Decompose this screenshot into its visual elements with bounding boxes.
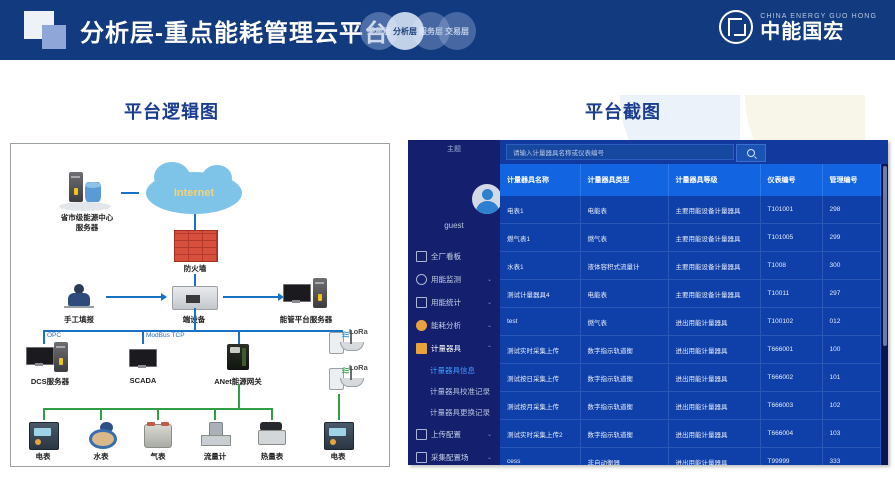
platform-screenshot: 主题 guest 全厂看板 用能监测 ⌄ 用能统计 ⌄ 能耗分析 ⌄: [408, 140, 888, 465]
sidebar-subitem-calibration[interactable]: 计量器具校准记录: [408, 381, 500, 402]
col-grade[interactable]: 计量器具等级: [668, 164, 760, 196]
app-sidebar: 主题 guest 全厂看板 用能监测 ⌄ 用能统计 ⌄ 能耗分析 ⌄: [408, 140, 500, 465]
cell-type: 数字指示轨道衡: [580, 420, 668, 448]
cell-grade: 进出用能计量器具: [668, 364, 760, 392]
collect-icon: [416, 452, 427, 463]
chevron-down-icon: ⌄: [487, 276, 492, 283]
monitor-icon: [416, 274, 427, 285]
cell-meter-no: T666003: [760, 392, 822, 420]
platform-monitor-icon: [283, 284, 309, 304]
cell-mgmt-no: 298: [822, 196, 880, 224]
sidebar-label: 能耗分析: [431, 320, 461, 331]
label-scada: SCADA: [116, 376, 170, 385]
theme-label[interactable]: 主题: [408, 144, 500, 154]
green-branch-2: [100, 408, 102, 420]
cell-meter-no: T666004: [760, 420, 822, 448]
lora-device-top-icon: ≋ LoRa: [329, 330, 363, 356]
stats-icon: [416, 297, 427, 308]
meter-label-4: 热量表: [248, 451, 296, 462]
stage-circle-label: 交易层: [445, 26, 469, 37]
label-platform-server: 能管平台服务器: [266, 314, 346, 325]
meter-label-2: 气表: [134, 451, 182, 462]
cell-type: 数字指示轨道衡: [580, 392, 668, 420]
app-main-content: 请输入计量器具名称或仪表编号 计量器具名称 计量器具类型 计量器具等级 仪表编号…: [500, 140, 888, 465]
database-icon: [85, 182, 101, 202]
cell-grade: 主要用能设备计量器具: [668, 224, 760, 252]
table-row[interactable]: 测试实时采集上传2数字指示轨道衡进出用能计量器具T666004103: [500, 420, 880, 448]
platform-logic-diagram: 省市级能源中心 服务器 Internet 防火墙 手工填报 端设备 能管平台服务…: [10, 143, 390, 467]
cell-grade: 进出用能计量器具: [668, 420, 760, 448]
stage-circle-trade[interactable]: 交易层: [438, 12, 476, 50]
arrow-edge-to-platform: [223, 296, 279, 298]
cell-name: 测试实时采集上传: [500, 336, 580, 364]
chevron-down-icon: ⌄: [487, 299, 492, 306]
scrollbar-thumb[interactable]: [883, 166, 887, 346]
label-internet: Internet: [174, 187, 214, 199]
cell-type: 数字指示轨道衡: [580, 364, 668, 392]
meter-label-5: 电表: [314, 451, 362, 462]
cell-meter-no: T10011: [760, 280, 822, 308]
meter-label-3: 流量计: [191, 451, 239, 462]
cell-mgmt-no: 102: [822, 392, 880, 420]
cell-meter-no: T101005: [760, 224, 822, 252]
table-body: 电表1电能表主要用能设备计量器具T101001298 燃气表1燃气表主要用能设备…: [500, 196, 880, 465]
cell-name: 燃气表1: [500, 224, 580, 252]
bus-drop: [194, 308, 196, 330]
analysis-icon: [416, 320, 427, 331]
cell-name: cess: [500, 448, 580, 466]
table-row[interactable]: 电表1电能表主要用能设备计量器具T101001298: [500, 196, 880, 224]
table-row[interactable]: cess非自动衡器进出用能计量器具T99999333: [500, 448, 880, 466]
cell-grade: 主要用能设备计量器具: [668, 196, 760, 224]
internet-cloud-icon: Internet: [146, 172, 242, 214]
sidebar-subitem-meter-info[interactable]: 计量器具信息: [408, 360, 500, 381]
cell-grade: 进出用能计量器具: [668, 308, 760, 336]
dcs-monitor-icon: [26, 347, 52, 367]
meter-heat-icon: [258, 422, 286, 448]
app-header: 分析层-重点能耗管理云平台 采集层 服务层 交易层 分析层 CHINA ENER…: [0, 0, 895, 60]
chevron-down-icon: ⌄: [487, 431, 492, 438]
edge-device-icon: [172, 286, 218, 310]
green-branch-3: [157, 408, 159, 420]
cell-type: 数字指示轨道衡: [580, 336, 668, 364]
table-row[interactable]: 测试按日采集上传数字指示轨道衡进出用能计量器具T666002101: [500, 364, 880, 392]
chevron-down-icon: ⌄: [487, 454, 492, 461]
label-modbus: ModBus TCP: [146, 332, 185, 339]
sidebar-sublabel: 计量器具校准记录: [430, 386, 490, 397]
search-placeholder: 请输入计量器具名称或仪表编号: [513, 147, 604, 157]
cell-name: 水表1: [500, 252, 580, 280]
page-title: 分析层-重点能耗管理云平台: [80, 13, 389, 48]
manual-entry-icon: [66, 284, 92, 310]
meter-flow-icon: [201, 422, 229, 448]
link-cloud-firewall: [194, 214, 196, 230]
bus-branch-scada: [142, 330, 144, 344]
cell-mgmt-no: 012: [822, 308, 880, 336]
cell-mgmt-no: 299: [822, 224, 880, 252]
table-scrollbar[interactable]: [882, 164, 888, 465]
label-lora-bottom: LoRa: [349, 363, 368, 372]
label-lora-top: LoRa: [349, 327, 368, 336]
table-row[interactable]: 水表1液体容积式流量计主要用能设备计量器具T1008300: [500, 252, 880, 280]
col-mgmt-no[interactable]: 管理编号: [822, 164, 880, 196]
right-section-title: 平台截图: [585, 98, 661, 124]
stage-circle-label: 分析层: [393, 26, 417, 37]
cell-meter-no: T99999: [760, 448, 822, 466]
label-province-server-line2: 服务器: [49, 222, 125, 233]
anet-gateway-icon: [227, 344, 249, 370]
col-type[interactable]: 计量器具类型: [580, 164, 668, 196]
scada-monitor-icon: [129, 349, 155, 369]
sidebar-label: 全厂看板: [431, 251, 461, 262]
meter-icon: [416, 343, 427, 354]
table-row[interactable]: 测试按月采集上传数字指示轨道衡进出用能计量器具T666003102: [500, 392, 880, 420]
cell-grade: 进出用能计量器具: [668, 336, 760, 364]
left-section-title: 平台逻辑图: [124, 98, 219, 124]
table-row[interactable]: 测试计量器具4电能表主要用能设备计量器具T10011297: [500, 280, 880, 308]
chevron-up-icon: ⌃: [487, 345, 492, 352]
cell-type: 燃气表: [580, 308, 668, 336]
cell-name: 测试计量器具4: [500, 280, 580, 308]
meter-label-1: 水表: [77, 451, 125, 462]
sidebar-label: 用能监测: [431, 274, 461, 285]
sidebar-label: 上传配置: [431, 429, 461, 440]
label-dcs: DCS服务器: [19, 376, 81, 387]
link-server-cloud: [121, 192, 139, 194]
cell-meter-no: T101001: [760, 196, 822, 224]
cell-mgmt-no: 297: [822, 280, 880, 308]
server-tower-icon: [69, 172, 83, 202]
logo-text: CHINA ENERGY GUO HONG 中能国宏: [760, 13, 877, 42]
search-toolbar: 请输入计量器具名称或仪表编号: [500, 140, 888, 164]
sidebar-item-upload-config[interactable]: 上传配置 ⌄: [408, 423, 500, 446]
cell-grade: 进出用能计量器具: [668, 448, 760, 466]
firewall-icon: [174, 230, 218, 262]
cell-mgmt-no: 103: [822, 420, 880, 448]
cell-grade: 进出用能计量器具: [668, 392, 760, 420]
cell-mgmt-no: 100: [822, 336, 880, 364]
stage-circle-analysis[interactable]: 分析层: [386, 12, 424, 50]
label-firewall: 防火墙: [165, 263, 225, 274]
cell-mgmt-no: 333: [822, 448, 880, 466]
logo-mark-icon: [719, 10, 753, 44]
upload-icon: [416, 429, 427, 440]
server-base: [59, 202, 111, 211]
logo-squares: [24, 11, 72, 51]
sidebar-sublabel: 计量器具更换记录: [430, 407, 490, 418]
sidebar-username: guest: [408, 221, 500, 230]
cell-meter-no: T666002: [760, 364, 822, 392]
sidebar-subitem-replacement[interactable]: 计量器具更换记录: [408, 402, 500, 423]
table-row[interactable]: test燃气表进出用能计量器具T100102012: [500, 308, 880, 336]
bus-branch-dcs: [43, 330, 45, 344]
sidebar-label: 采集配置场: [431, 452, 469, 463]
dcs-tower-icon: [54, 342, 68, 372]
search-button[interactable]: [736, 144, 766, 162]
sidebar-item-analysis[interactable]: 能耗分析 ⌄: [408, 314, 500, 337]
green-branch-lora: [338, 394, 340, 420]
sidebar-item-statistics[interactable]: 用能统计 ⌄: [408, 291, 500, 314]
table-header-row: 计量器具名称 计量器具类型 计量器具等级 仪表编号 管理编号: [500, 164, 880, 196]
cell-meter-no: T666001: [760, 336, 822, 364]
label-manual-entry: 手工填报: [49, 314, 109, 325]
arrow-manual-to-edge: [106, 296, 162, 298]
meter-gas-icon: [144, 422, 172, 448]
green-bus-drop: [238, 384, 240, 408]
label-opc: OPC: [47, 332, 61, 339]
col-meter-no[interactable]: 仪表编号: [760, 164, 822, 196]
cell-type: 燃气表: [580, 224, 668, 252]
sidebar-label: 计量器具: [431, 343, 461, 354]
search-input[interactable]: 请输入计量器具名称或仪表编号: [506, 144, 734, 160]
green-branch-5: [271, 408, 273, 420]
square-blue: [42, 25, 66, 49]
logo-english: CHINA ENERGY GUO HONG: [760, 13, 877, 20]
sidebar-label: 用能统计: [431, 297, 461, 308]
cell-name: 电表1: [500, 196, 580, 224]
cell-type: 电能表: [580, 196, 668, 224]
table-row[interactable]: 燃气表1燃气表主要用能设备计量器具T101005299: [500, 224, 880, 252]
cell-grade: 主要用能设备计量器具: [668, 280, 760, 308]
lora-device-bottom-icon: ≋ LoRa: [329, 366, 363, 392]
meter-electric-2-icon: [324, 422, 354, 450]
logo-chinese: 中能国宏: [760, 22, 877, 42]
sidebar-sublabel: 计量器具信息: [430, 365, 475, 376]
green-branch-4: [214, 408, 216, 420]
cell-mgmt-no: 300: [822, 252, 880, 280]
sidebar-item-monitor[interactable]: 用能监测 ⌄: [408, 268, 500, 291]
cell-type: 电能表: [580, 280, 668, 308]
col-name[interactable]: 计量器具名称: [500, 164, 580, 196]
sidebar-item-collect-config[interactable]: 采集配置场 ⌄: [408, 446, 500, 465]
cell-grade: 主要用能设备计量器具: [668, 252, 760, 280]
bus-horizontal: [43, 330, 341, 332]
cell-name: 测试实时采集上传2: [500, 420, 580, 448]
meter-label-0: 电表: [19, 451, 67, 462]
sidebar-item-dashboard[interactable]: 全厂看板: [408, 245, 500, 268]
cell-name: 测试按月采集上传: [500, 392, 580, 420]
avatar[interactable]: [472, 184, 502, 214]
cell-type: 液体容积式流量计: [580, 252, 668, 280]
meter-table: 计量器具名称 计量器具类型 计量器具等级 仪表编号 管理编号 电表1电能表主要用…: [500, 164, 881, 465]
meter-electric-1-icon: [29, 422, 59, 450]
cell-mgmt-no: 101: [822, 364, 880, 392]
sidebar-item-meters[interactable]: 计量器具 ⌃: [408, 337, 500, 360]
meter-water-icon: [87, 422, 115, 448]
sidebar-menu: 全厂看板 用能监测 ⌄ 用能统计 ⌄ 能耗分析 ⌄ 计量器具 ⌃: [408, 245, 500, 465]
cell-name: test: [500, 308, 580, 336]
cell-meter-no: T1008: [760, 252, 822, 280]
company-logo: CHINA ENERGY GUO HONG 中能国宏: [719, 10, 877, 44]
green-branch-1: [43, 408, 45, 420]
dashboard-icon: [416, 251, 427, 262]
chevron-down-icon: ⌄: [487, 322, 492, 329]
cell-meter-no: T100102: [760, 308, 822, 336]
search-icon: [747, 149, 755, 157]
cell-name: 测试按日采集上传: [500, 364, 580, 392]
cell-type: 非自动衡器: [580, 448, 668, 466]
bus-branch-gateway: [238, 330, 240, 344]
table-row[interactable]: 测试实时采集上传数字指示轨道衡进出用能计量器具T666001100: [500, 336, 880, 364]
platform-tower-icon: [313, 278, 327, 308]
